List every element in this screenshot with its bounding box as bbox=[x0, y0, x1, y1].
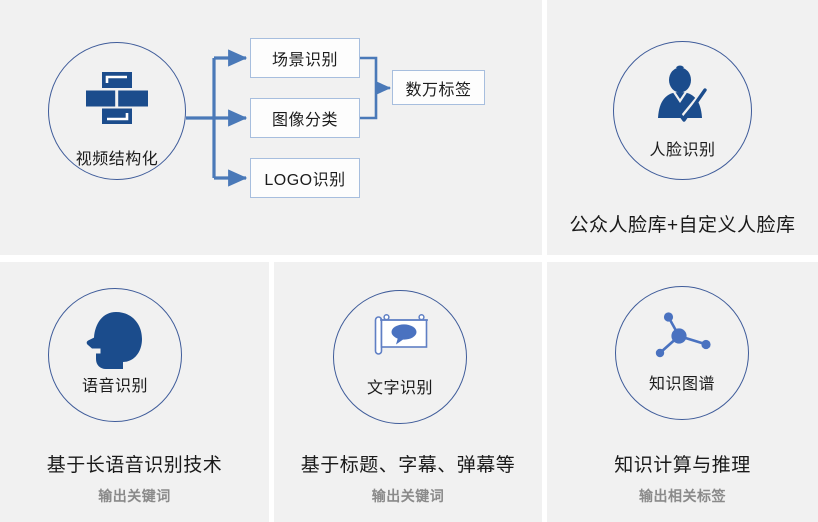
panel-face-recognition: 人脸识别 公众人脸库+自定义人脸库 bbox=[547, 0, 818, 255]
subcaption-speech-recognition: 输出关键词 bbox=[0, 486, 269, 506]
circle-label-knowledge-graph: 知识图谱 bbox=[615, 370, 749, 394]
knowledge-graph-icon bbox=[647, 307, 714, 365]
subcaption-knowledge-graph: 输出相关标签 bbox=[547, 486, 818, 506]
video-structuring-icon bbox=[86, 72, 148, 124]
caption-face-recognition: 公众人脸库+自定义人脸库 bbox=[547, 210, 818, 237]
circle-label-speech-recognition: 语音识别 bbox=[48, 372, 182, 396]
flow-box-scene-recognition[interactable]: 场景识别 bbox=[250, 38, 360, 78]
text-banner-icon bbox=[373, 312, 430, 360]
speech-head-icon bbox=[86, 312, 144, 370]
face-recognition-icon bbox=[652, 65, 713, 125]
infographic-canvas: 视频结构化 场景识别 图像分 bbox=[0, 0, 818, 522]
panel-speech-recognition: 语音识别 基于长语音识别技术 输出关键词 bbox=[0, 262, 269, 522]
flow-box-tens-of-thousands-tags[interactable]: 数万标签 bbox=[392, 70, 485, 105]
flow-box-logo-recognition[interactable]: LOGO识别 bbox=[250, 158, 360, 198]
circle-label-face-recognition: 人脸识别 bbox=[613, 136, 752, 160]
panel-text-recognition: 文字识别 基于标题、字幕、弹幕等 输出关键词 bbox=[274, 262, 542, 522]
circle-label-text-recognition: 文字识别 bbox=[333, 374, 467, 398]
subcaption-text-recognition: 输出关键词 bbox=[274, 486, 542, 506]
panel-knowledge-graph: 知识图谱 知识计算与推理 输出相关标签 bbox=[547, 262, 818, 522]
circle-label-video-structuring: 视频结构化 bbox=[48, 145, 186, 169]
caption-knowledge-graph: 知识计算与推理 bbox=[547, 450, 818, 477]
panel-video-structuring: 视频结构化 场景识别 图像分 bbox=[0, 0, 542, 255]
flow-box-image-classification[interactable]: 图像分类 bbox=[250, 98, 360, 138]
caption-text-recognition: 基于标题、字幕、弹幕等 bbox=[274, 450, 542, 477]
caption-speech-recognition: 基于长语音识别技术 bbox=[0, 450, 269, 477]
